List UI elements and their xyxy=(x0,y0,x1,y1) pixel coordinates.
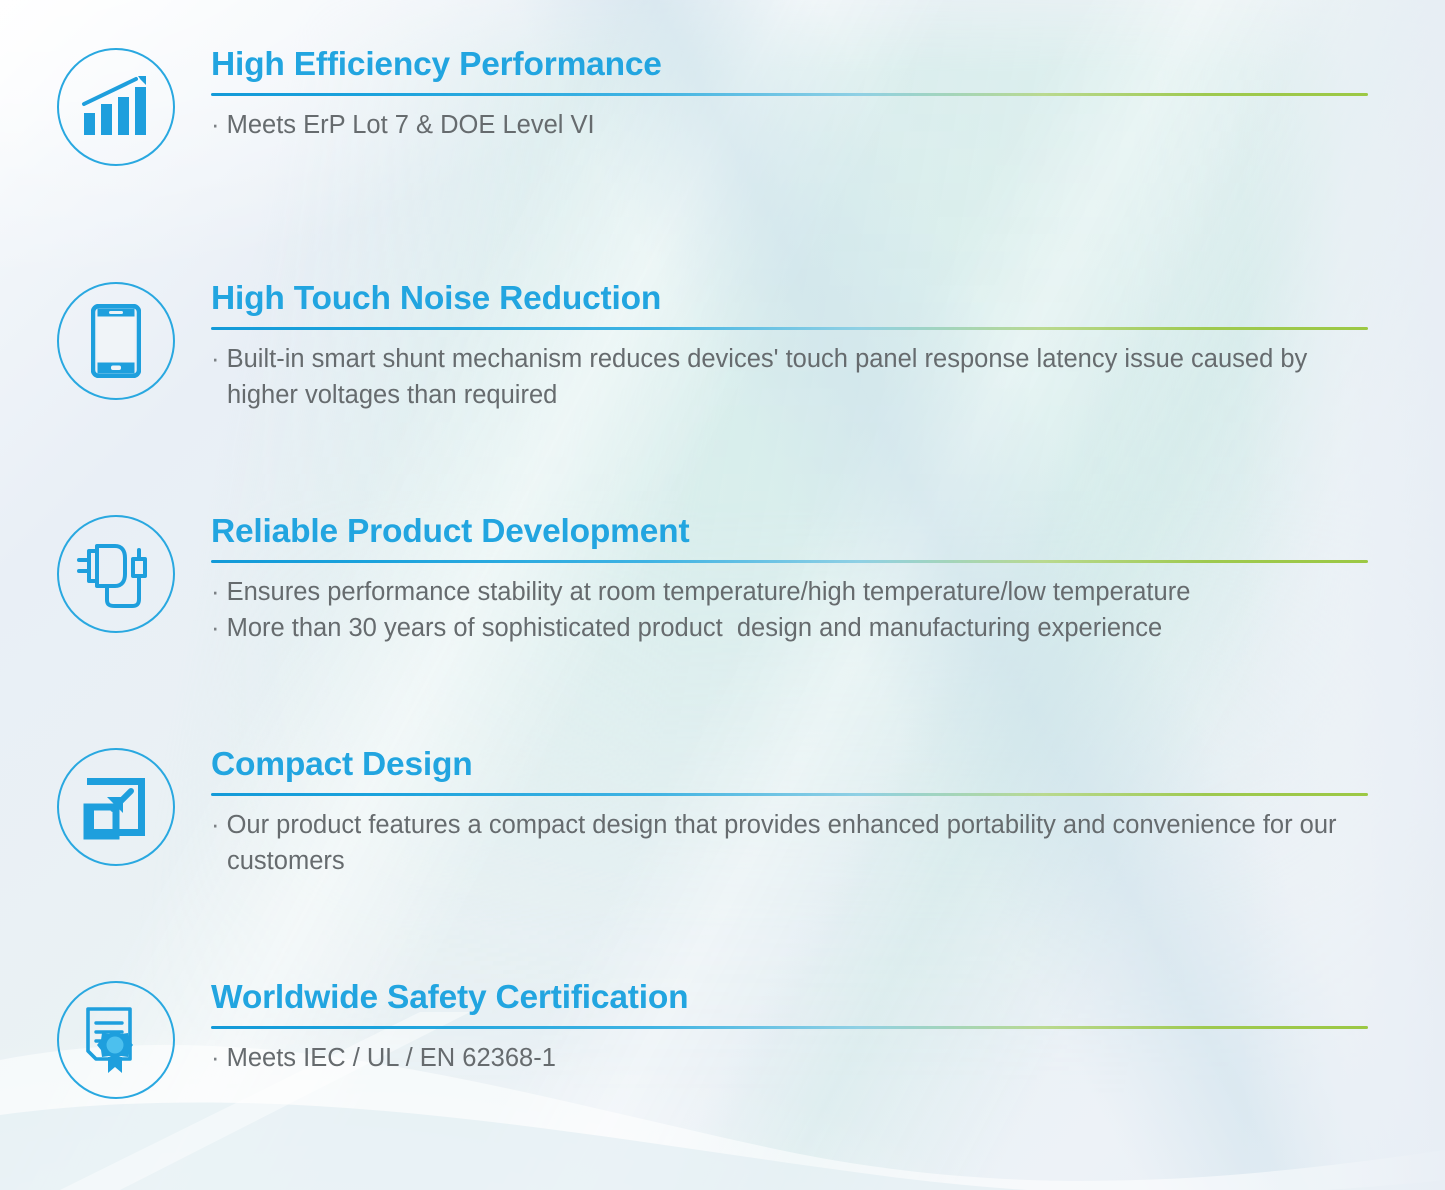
feature-text-column: High Touch Noise Reduction · Built-in sm… xyxy=(211,280,1445,414)
bullet-line: · More than 30 years of sophisticated pr… xyxy=(211,610,1375,647)
feature-text-column: Reliable Product Development · Ensures p… xyxy=(211,513,1445,647)
bullet-line: · Meets IEC / UL / EN 62368-1 xyxy=(211,1040,1375,1077)
bullet-marker: · xyxy=(211,811,220,839)
feature-text-column: Worldwide Safety Certification · Meets I… xyxy=(211,979,1445,1076)
feature-icon-wrap xyxy=(54,979,178,1099)
feature-divider xyxy=(211,327,1368,330)
feature-highlights-page: High Efficiency Performance · Meets ErP … xyxy=(0,0,1445,1190)
feature-bullets: · Meets IEC / UL / EN 62368-1 xyxy=(211,1040,1375,1077)
feature-list: High Efficiency Performance · Meets ErP … xyxy=(0,0,1445,1190)
feature-item-worldwide-safety-certification: Worldwide Safety Certification · Meets I… xyxy=(0,979,1445,1099)
feature-icon-wrap xyxy=(54,280,178,400)
feature-title: High Efficiency Performance xyxy=(211,46,1375,84)
icon-circle xyxy=(57,48,175,166)
feature-divider xyxy=(211,93,1368,96)
bullet-text: Meets ErP Lot 7 & DOE Level VI xyxy=(227,111,595,139)
feature-icon-wrap xyxy=(54,746,178,866)
feature-bullets: · Built-in smart shunt mechanism reduces… xyxy=(211,341,1375,414)
bar-chart-growth-icon xyxy=(80,73,152,141)
icon-circle xyxy=(57,282,175,400)
feature-bullets: · Our product features a compact design … xyxy=(211,807,1375,880)
feature-icon-wrap xyxy=(54,46,178,166)
bullet-line: · Our product features a compact design … xyxy=(211,807,1375,880)
bullet-marker: · xyxy=(211,345,220,373)
feature-text-column: Compact Design · Our product features a … xyxy=(211,746,1445,880)
bullet-text: More than 30 years of sophisticated prod… xyxy=(227,614,1163,642)
bullet-marker: · xyxy=(211,1044,220,1072)
feature-divider xyxy=(211,793,1368,796)
smartphone-icon xyxy=(91,304,141,378)
icon-circle xyxy=(57,981,175,1099)
feature-text-column: High Efficiency Performance · Meets ErP … xyxy=(211,46,1445,143)
bullet-text: Our product features a compact design th… xyxy=(227,811,1344,876)
feature-title: High Touch Noise Reduction xyxy=(211,280,1375,318)
feature-bullets: · Ensures performance stability at room … xyxy=(211,574,1375,647)
feature-divider xyxy=(211,1026,1368,1029)
feature-divider xyxy=(211,560,1368,563)
feature-item-compact-design: Compact Design · Our product features a … xyxy=(0,746,1445,880)
bullet-marker: · xyxy=(211,614,220,642)
feature-title: Compact Design xyxy=(211,746,1375,784)
icon-circle xyxy=(57,748,175,866)
feature-item-high-efficiency-performance: High Efficiency Performance · Meets ErP … xyxy=(0,46,1445,166)
feature-icon-wrap xyxy=(54,513,178,633)
feature-item-reliable-product-development: Reliable Product Development · Ensures p… xyxy=(0,513,1445,647)
bullet-line: · Meets ErP Lot 7 & DOE Level VI xyxy=(211,107,1375,144)
icon-circle xyxy=(57,515,175,633)
certificate-seal-icon xyxy=(82,1005,150,1075)
bullet-marker: · xyxy=(211,578,220,606)
bullet-text: Ensures performance stability at room te… xyxy=(227,578,1191,606)
compact-resize-icon xyxy=(83,774,149,840)
power-adapter-icon xyxy=(77,538,155,610)
bullet-text: Built-in smart shunt mechanism reduces d… xyxy=(227,345,1315,410)
feature-item-high-touch-noise-reduction: High Touch Noise Reduction · Built-in sm… xyxy=(0,280,1445,414)
feature-title: Worldwide Safety Certification xyxy=(211,979,1375,1017)
feature-bullets: · Meets ErP Lot 7 & DOE Level VI xyxy=(211,107,1375,144)
feature-title: Reliable Product Development xyxy=(211,513,1375,551)
bullet-line: · Built-in smart shunt mechanism reduces… xyxy=(211,341,1375,414)
bullet-marker: · xyxy=(211,111,220,139)
bullet-line: · Ensures performance stability at room … xyxy=(211,574,1375,611)
bullet-text: Meets IEC / UL / EN 62368-1 xyxy=(227,1044,556,1072)
